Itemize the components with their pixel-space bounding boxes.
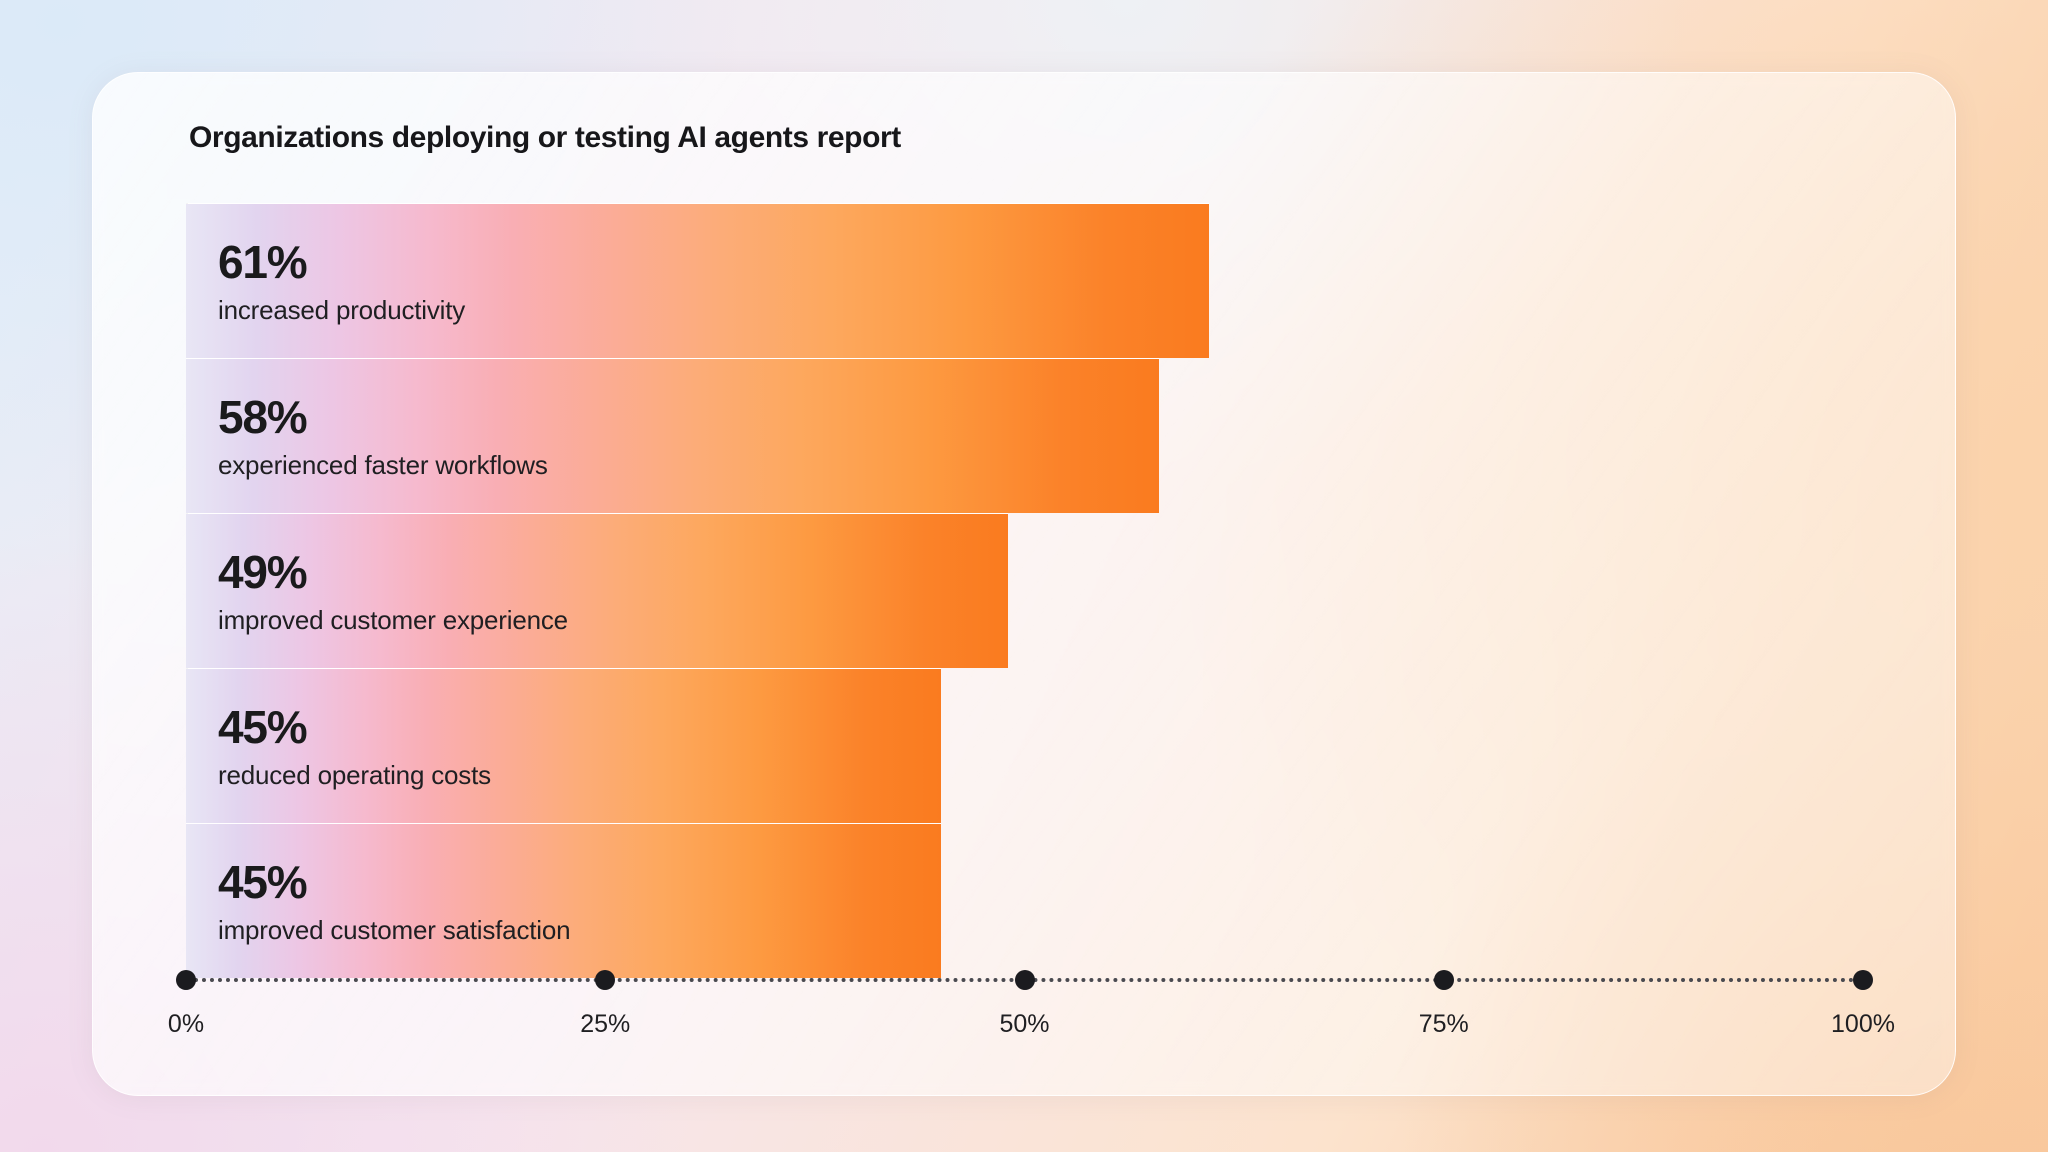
page-background: Organizations deploying or testing AI ag… (0, 0, 2048, 1152)
bar-value-label: 61% (218, 239, 465, 285)
bar-value-label: 45% (218, 859, 570, 905)
bar-row: 45%reduced operating costs (186, 668, 941, 823)
plot-area: 61%increased productivity58%experienced … (186, 203, 1863, 978)
bar-category-label: experienced faster workflows (218, 452, 548, 478)
bar-row: 61%increased productivity (186, 203, 1209, 358)
axis-tick-dot (595, 970, 615, 990)
bar-row: 49%improved customer experience (186, 513, 1008, 668)
axis-tick-dot (176, 970, 196, 990)
bar-category-label: increased productivity (218, 297, 465, 323)
axis-tick-label: 100% (1831, 1010, 1895, 1039)
axis-tick-label: 50% (999, 1010, 1049, 1039)
x-axis: 0%25%50%75%100% (186, 978, 1863, 982)
axis-tick-dot (1853, 970, 1873, 990)
bar-label-group: 61%increased productivity (218, 239, 465, 323)
axis-tick-dot (1015, 970, 1035, 990)
bar-value-label: 49% (218, 549, 568, 595)
axis-tick-dot (1434, 970, 1454, 990)
axis-tick-label: 25% (580, 1010, 630, 1039)
bar-category-label: reduced operating costs (218, 762, 491, 788)
chart-card: Organizations deploying or testing AI ag… (92, 72, 1956, 1096)
bar-category-label: improved customer satisfaction (218, 917, 570, 943)
bar-category-label: improved customer experience (218, 607, 568, 633)
bar-label-group: 49%improved customer experience (218, 549, 568, 633)
bar-label-group: 45%improved customer satisfaction (218, 859, 570, 943)
bar-label-group: 45%reduced operating costs (218, 704, 491, 788)
chart-title: Organizations deploying or testing AI ag… (189, 121, 901, 155)
bar-row: 58%experienced faster workflows (186, 358, 1159, 513)
axis-tick-label: 75% (1419, 1010, 1469, 1039)
bar-label-group: 58%experienced faster workflows (218, 394, 548, 478)
axis-tick-label: 0% (168, 1010, 204, 1039)
bar-row: 45%improved customer satisfaction (186, 823, 941, 978)
bar-value-label: 45% (218, 704, 491, 750)
bar-value-label: 58% (218, 394, 548, 440)
